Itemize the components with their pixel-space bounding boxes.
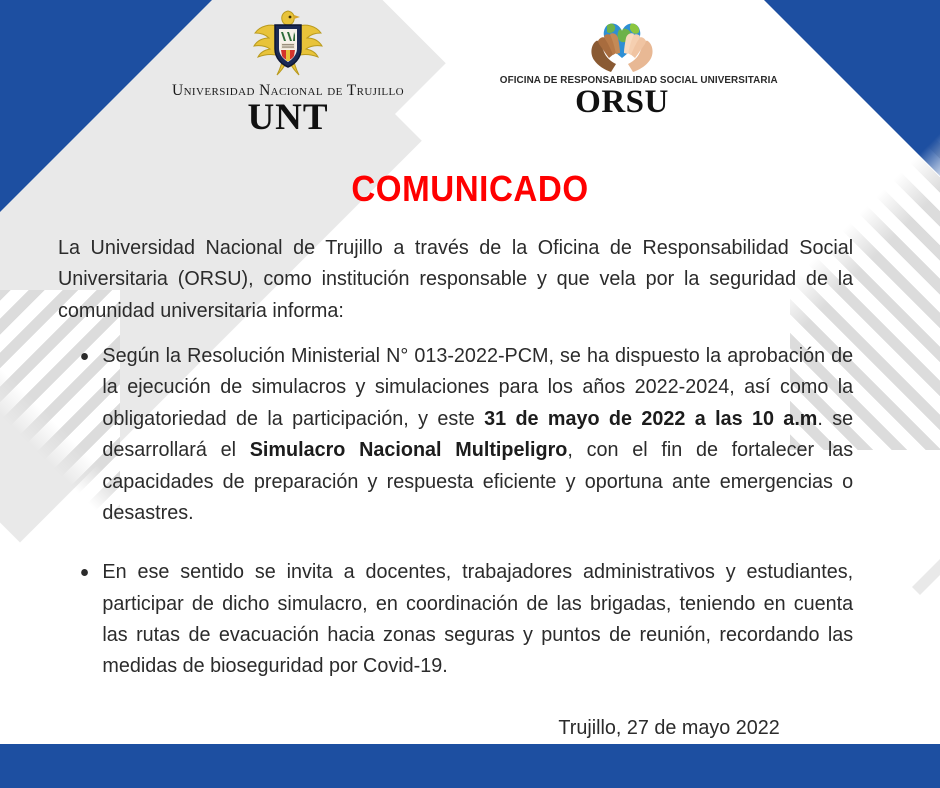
unt-logo: Universidad Nacional de Trujillo UNT <box>148 8 428 138</box>
orsu-acronym: ORSU <box>492 84 752 120</box>
bullet-text: En ese sentido se invita a docentes, tra… <box>102 560 853 677</box>
document-body: La Universidad Nacional de Trujillo a tr… <box>58 232 853 743</box>
page-title: COMUNICADO <box>38 168 903 210</box>
list-item: En ese sentido se invita a docentes, tra… <box>58 556 853 681</box>
document-content: COMUNICADO La Universidad Nacional de Tr… <box>0 168 940 743</box>
logo-header: Universidad Nacional de Trujillo UNT <box>0 0 940 150</box>
intro-paragraph: La Universidad Nacional de Trujillo a tr… <box>58 232 853 326</box>
orsu-logo: OFICINA DE RESPONSABILIDAD SOCIAL UNIVER… <box>492 8 752 120</box>
orsu-office-name: OFICINA DE RESPONSABILIDAD SOCIAL UNIVER… <box>500 74 744 86</box>
bottom-blue-bar <box>0 744 940 788</box>
hands-holding-heart-globe-icon <box>492 8 752 74</box>
list-item: Según la Resolución Ministerial N° 013-2… <box>58 340 853 528</box>
unt-acronym: UNT <box>148 99 428 138</box>
signature-line: Trujillo, 27 de mayo 2022 <box>58 712 780 743</box>
bullet-list: Según la Resolución Ministerial N° 013-2… <box>58 340 853 682</box>
unt-coat-of-arms-icon <box>148 8 428 80</box>
bullet-text: Según la Resolución Ministerial N° 013-2… <box>102 344 853 524</box>
comunicado-poster: Universidad Nacional de Trujillo UNT <box>0 0 940 788</box>
